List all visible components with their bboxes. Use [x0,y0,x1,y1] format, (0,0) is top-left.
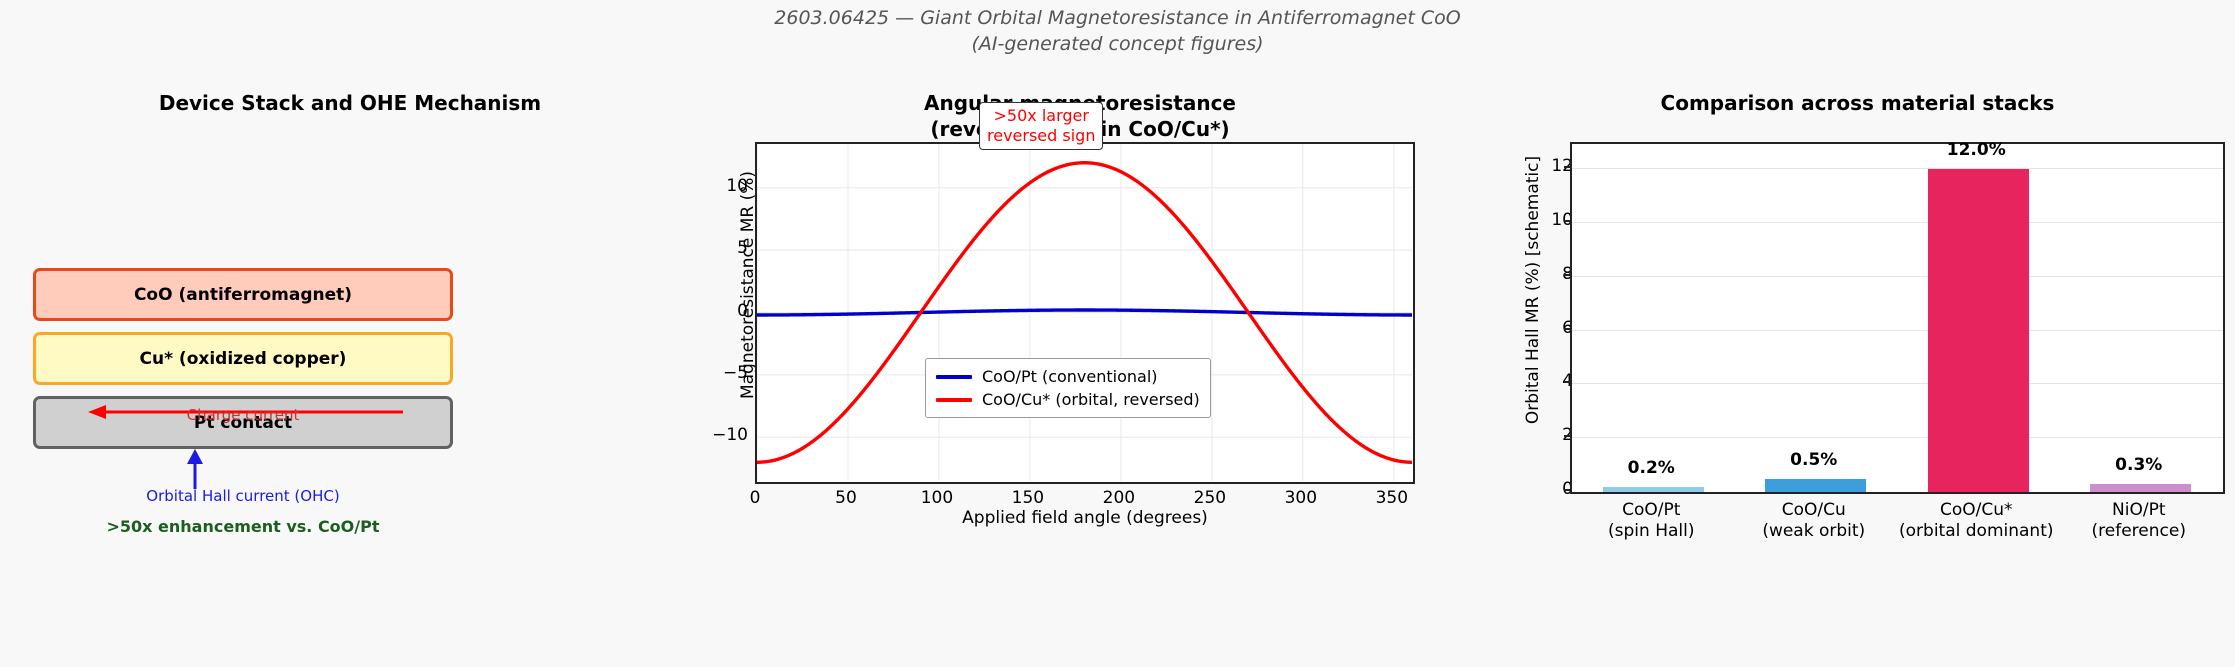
right-x-tick-line: (orbital dominant) [1895,521,2058,542]
right-gridline [1572,276,2223,277]
mid-plot-area [755,142,1415,484]
panel-angular-magnetoresistance: Angular magnetoresistance (reversed sign… [700,90,1460,667]
bar-value-label-2: 12.0% [1926,140,2027,160]
panel-material-comparison: Comparison across material stacks Orbita… [1480,90,2235,667]
stack-layer-cu: Cu* (oxidized copper) [33,332,453,385]
right-x-tick-0: CoO/Pt(spin Hall) [1570,500,1733,543]
bar-value-label-3: 0.3% [2088,455,2189,475]
right-x-tick-line: (spin Hall) [1570,521,1733,542]
right-x-tick-line: CoO/Pt [1570,500,1733,521]
stack-layer-coo-label: CoO (antiferromagnet) [134,285,352,305]
mid-y-tick: 0 [688,301,748,321]
mid-x-axis-label: Applied field angle (degrees) [755,508,1415,528]
right-gridline [1572,168,2223,169]
mid-x-tick: 100 [907,488,967,508]
charge-current-label: Charge current [33,406,453,424]
enhancement-label: >50x enhancement vs. CoO/Pt [33,517,453,536]
legend-swatch-icon [936,398,972,402]
right-x-tick-2: CoO/Cu*(orbital dominant) [1895,500,2058,543]
mid-annotation-line-1: >50x larger [987,106,1095,126]
mid-y-tick: −10 [688,425,748,445]
orbital-hall-current-arrow-icon [180,449,210,489]
orbital-hall-current-label: Orbital Hall current (OHC) [33,487,453,505]
legend-item-0[interactable]: CoO/Pt (conventional) [936,365,1200,388]
left-panel-title: Device Stack and OHE Mechanism [0,90,700,116]
right-panel-title: Comparison across material stacks [1480,90,2235,116]
bar-value-label-0: 0.2% [1601,458,1702,478]
mid-x-tick: 150 [998,488,1058,508]
mid-x-tick: 50 [816,488,876,508]
legend-item-1[interactable]: CoO/Cu* (orbital, reversed) [936,388,1200,411]
mid-annotation-callout: >50x larger reversed sign [979,102,1103,150]
mid-y-tick: 10 [688,176,748,196]
mid-x-tick: 300 [1271,488,1331,508]
legend-label: CoO/Pt (conventional) [982,367,1158,386]
bar-value-label-1: 0.5% [1763,450,1864,470]
bar-1[interactable] [1765,479,1866,492]
suptitle-line-1: 2603.06425 — Giant Orbital Magnetoresist… [0,6,2235,32]
mid-x-tick: 0 [725,488,785,508]
bar-2[interactable] [1928,169,2029,492]
right-x-tick-line: CoO/Cu* [1895,500,2058,521]
mid-x-tick: 200 [1089,488,1149,508]
legend-label: CoO/Cu* (orbital, reversed) [982,390,1200,409]
suptitle-line-2: (AI-generated concept figures) [0,32,2235,58]
bar-0[interactable] [1603,487,1704,492]
right-gridline [1572,437,2223,438]
right-x-tick-3: NiO/Pt(reference) [2058,500,2221,543]
mid-x-tick: 250 [1180,488,1240,508]
mid-x-tick: 350 [1362,488,1422,508]
mid-y-tick: −5 [688,363,748,383]
right-x-tick-line: (weak orbit) [1733,521,1896,542]
mid-y-tick: 5 [688,238,748,258]
right-x-tick-line: NiO/Pt [2058,500,2221,521]
figure-suptitle: 2603.06425 — Giant Orbital Magnetoresist… [0,6,2235,57]
right-x-tick-line: CoO/Cu [1733,500,1896,521]
device-stack-diagram: CoO (antiferromagnet) Cu* (oxidized copp… [0,184,700,524]
stack-layer-cu-label: Cu* (oxidized copper) [140,349,347,369]
stack-layer-coo: CoO (antiferromagnet) [33,268,453,321]
mid-chart-svg [757,144,1412,481]
right-x-tick-line: (reference) [2058,521,2221,542]
right-plot-area [1570,142,2225,494]
mid-annotation-line-2: reversed sign [987,126,1095,146]
mid-chart-legend[interactable]: CoO/Pt (conventional)CoO/Cu* (orbital, r… [925,358,1211,418]
right-gridline [1572,330,2223,331]
panel-device-stack: Device Stack and OHE Mechanism CoO (anti… [0,90,700,667]
right-x-tick-1: CoO/Cu(weak orbit) [1733,500,1896,543]
legend-swatch-icon [936,375,972,379]
bar-3[interactable] [2090,484,2191,492]
right-gridline [1572,383,2223,384]
right-gridline [1572,222,2223,223]
